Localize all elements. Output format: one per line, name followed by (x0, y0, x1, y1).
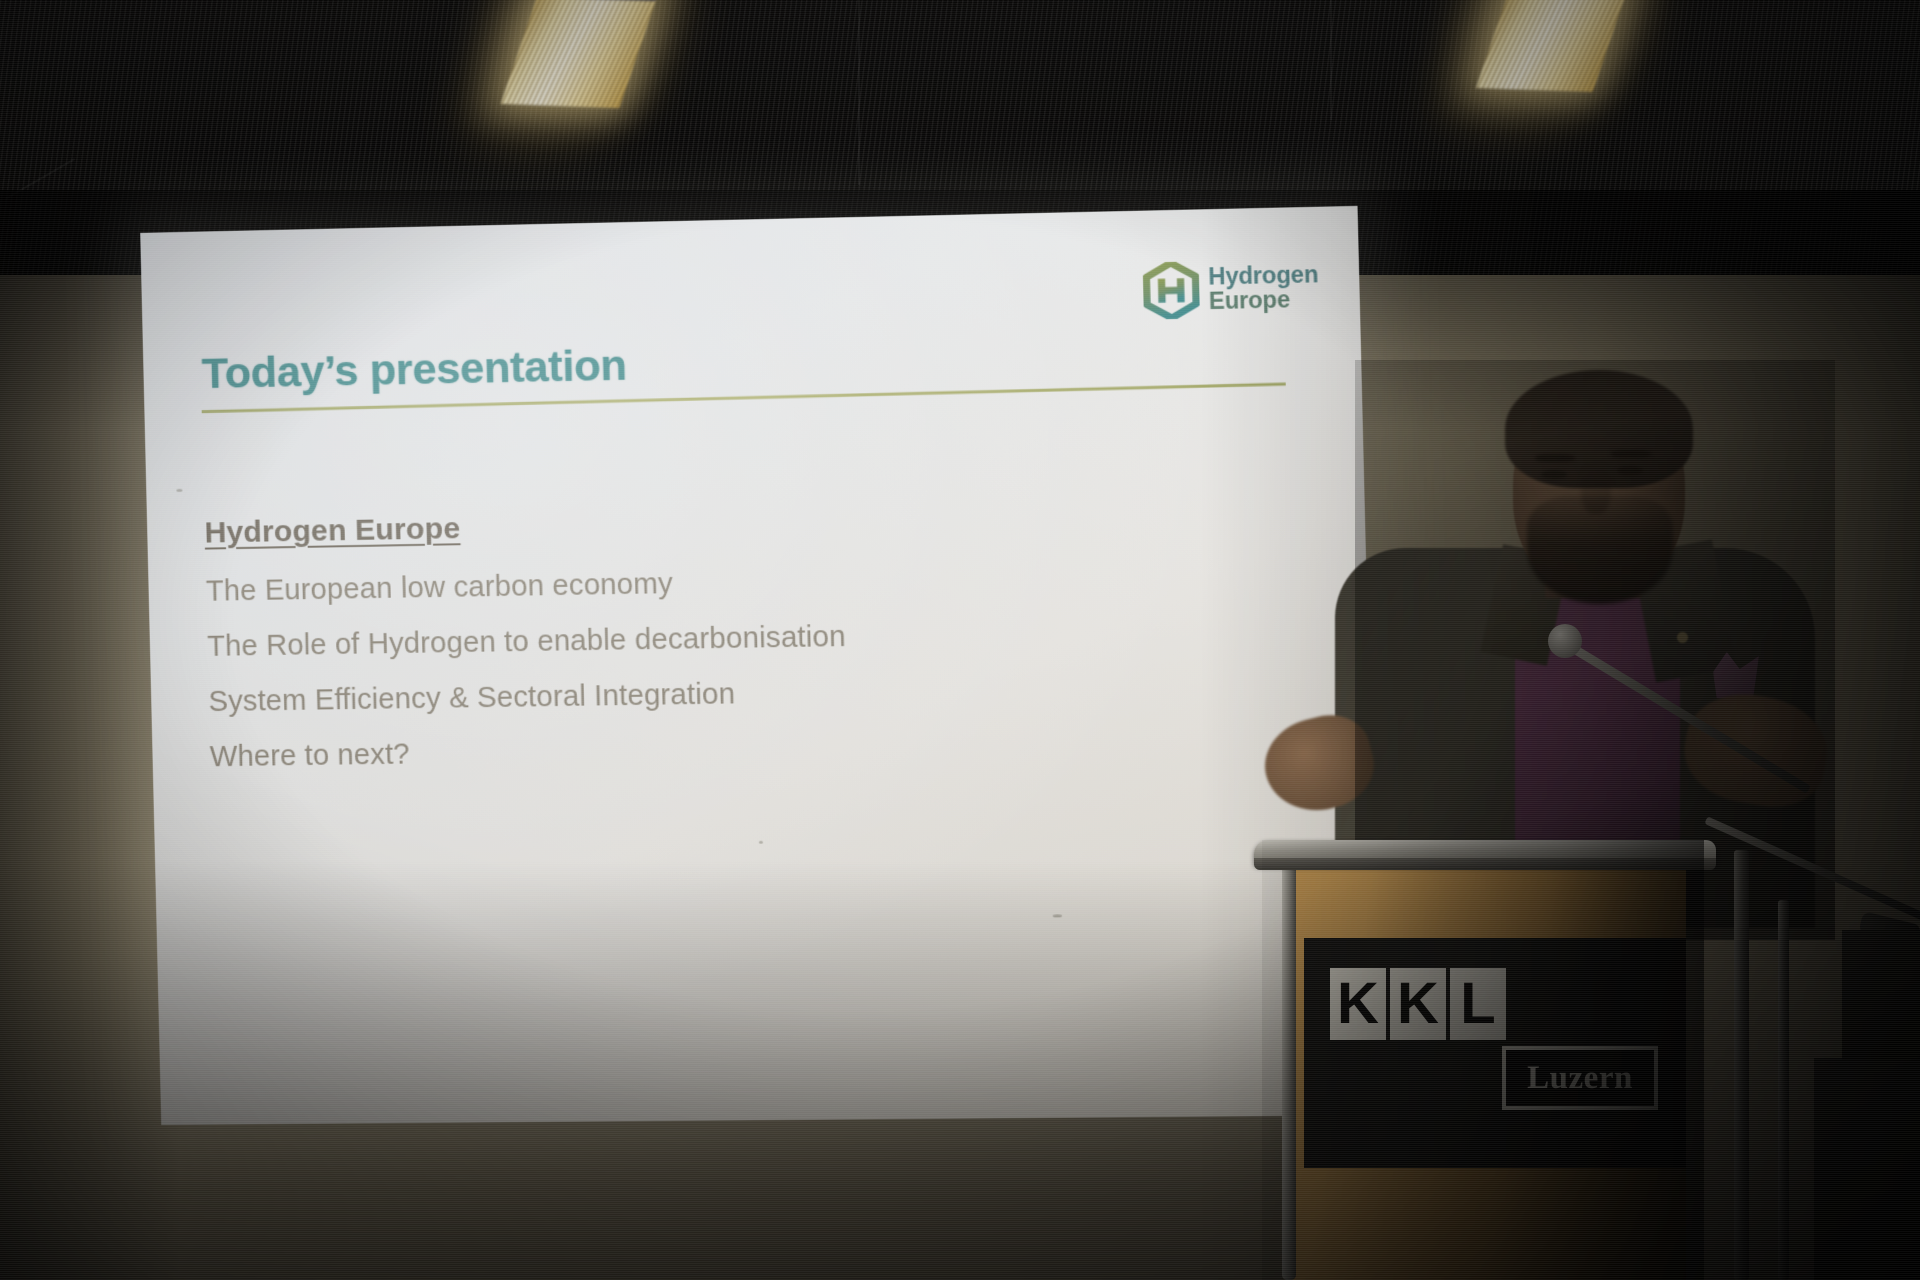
lapel-pin (1677, 632, 1688, 643)
screen-speck (1053, 914, 1062, 917)
ceiling-light-right (1476, 0, 1632, 92)
bullet-item: Where to next? (209, 727, 1232, 775)
av-equipment-box (1814, 1058, 1920, 1280)
screen-speck (759, 841, 763, 844)
kkl-tile-k2: K (1390, 968, 1446, 1040)
slide-body: Hydrogen Europe The European low carbon … (204, 498, 1233, 796)
ceiling-light-left (501, 0, 660, 108)
lectern-metal-edge (1282, 862, 1296, 1280)
slide-title: Today’s presentation (201, 341, 627, 399)
speaker-brow (1611, 450, 1651, 458)
bullet-heading: Hydrogen Europe (204, 498, 1227, 550)
speaker-beard (1527, 496, 1673, 604)
logo-line-2: Europe (1209, 287, 1320, 313)
kkl-tile-l: L (1450, 968, 1506, 1040)
hydrogen-europe-logo: Hydrogen Europe (1143, 256, 1332, 323)
mic-stand-pole-right (1778, 900, 1789, 1280)
speaker-eye (1541, 470, 1567, 479)
ceiling-seam (1330, 0, 1332, 120)
speaker-person (1395, 400, 1795, 900)
speaker-eye (1617, 466, 1643, 475)
logo-wordmark: Hydrogen Europe (1208, 263, 1319, 314)
kkl-logo: K K L (1330, 968, 1506, 1040)
av-equipment-panel (1842, 930, 1920, 1060)
screen-speck (176, 489, 182, 492)
bullet-item: The European low carbon economy (206, 559, 1229, 609)
conference-room-photo: Today’s presentation Hydrogen (0, 0, 1920, 1280)
microphone-capsule (1548, 624, 1582, 658)
hydrogen-hexagon-icon (1143, 261, 1200, 319)
luzern-badge: Luzern (1502, 1046, 1658, 1110)
projection-screen: Today’s presentation Hydrogen (0, 118, 1393, 1150)
bullet-item: The Role of Hydrogen to enable decarboni… (207, 615, 1230, 664)
bullet-item: System Efficiency & Sectoral Integration (208, 671, 1231, 719)
lectern-top-underside (1254, 858, 1716, 870)
kkl-tile-k1: K (1330, 968, 1386, 1040)
mic-stand-pole-left (1734, 850, 1749, 1280)
presentation-slide: Today’s presentation Hydrogen (140, 206, 1379, 1125)
luzern-label: Luzern (1527, 1060, 1633, 1097)
speaker-brow (1535, 454, 1575, 462)
lectern: K K L Luzern (1262, 840, 1704, 1280)
